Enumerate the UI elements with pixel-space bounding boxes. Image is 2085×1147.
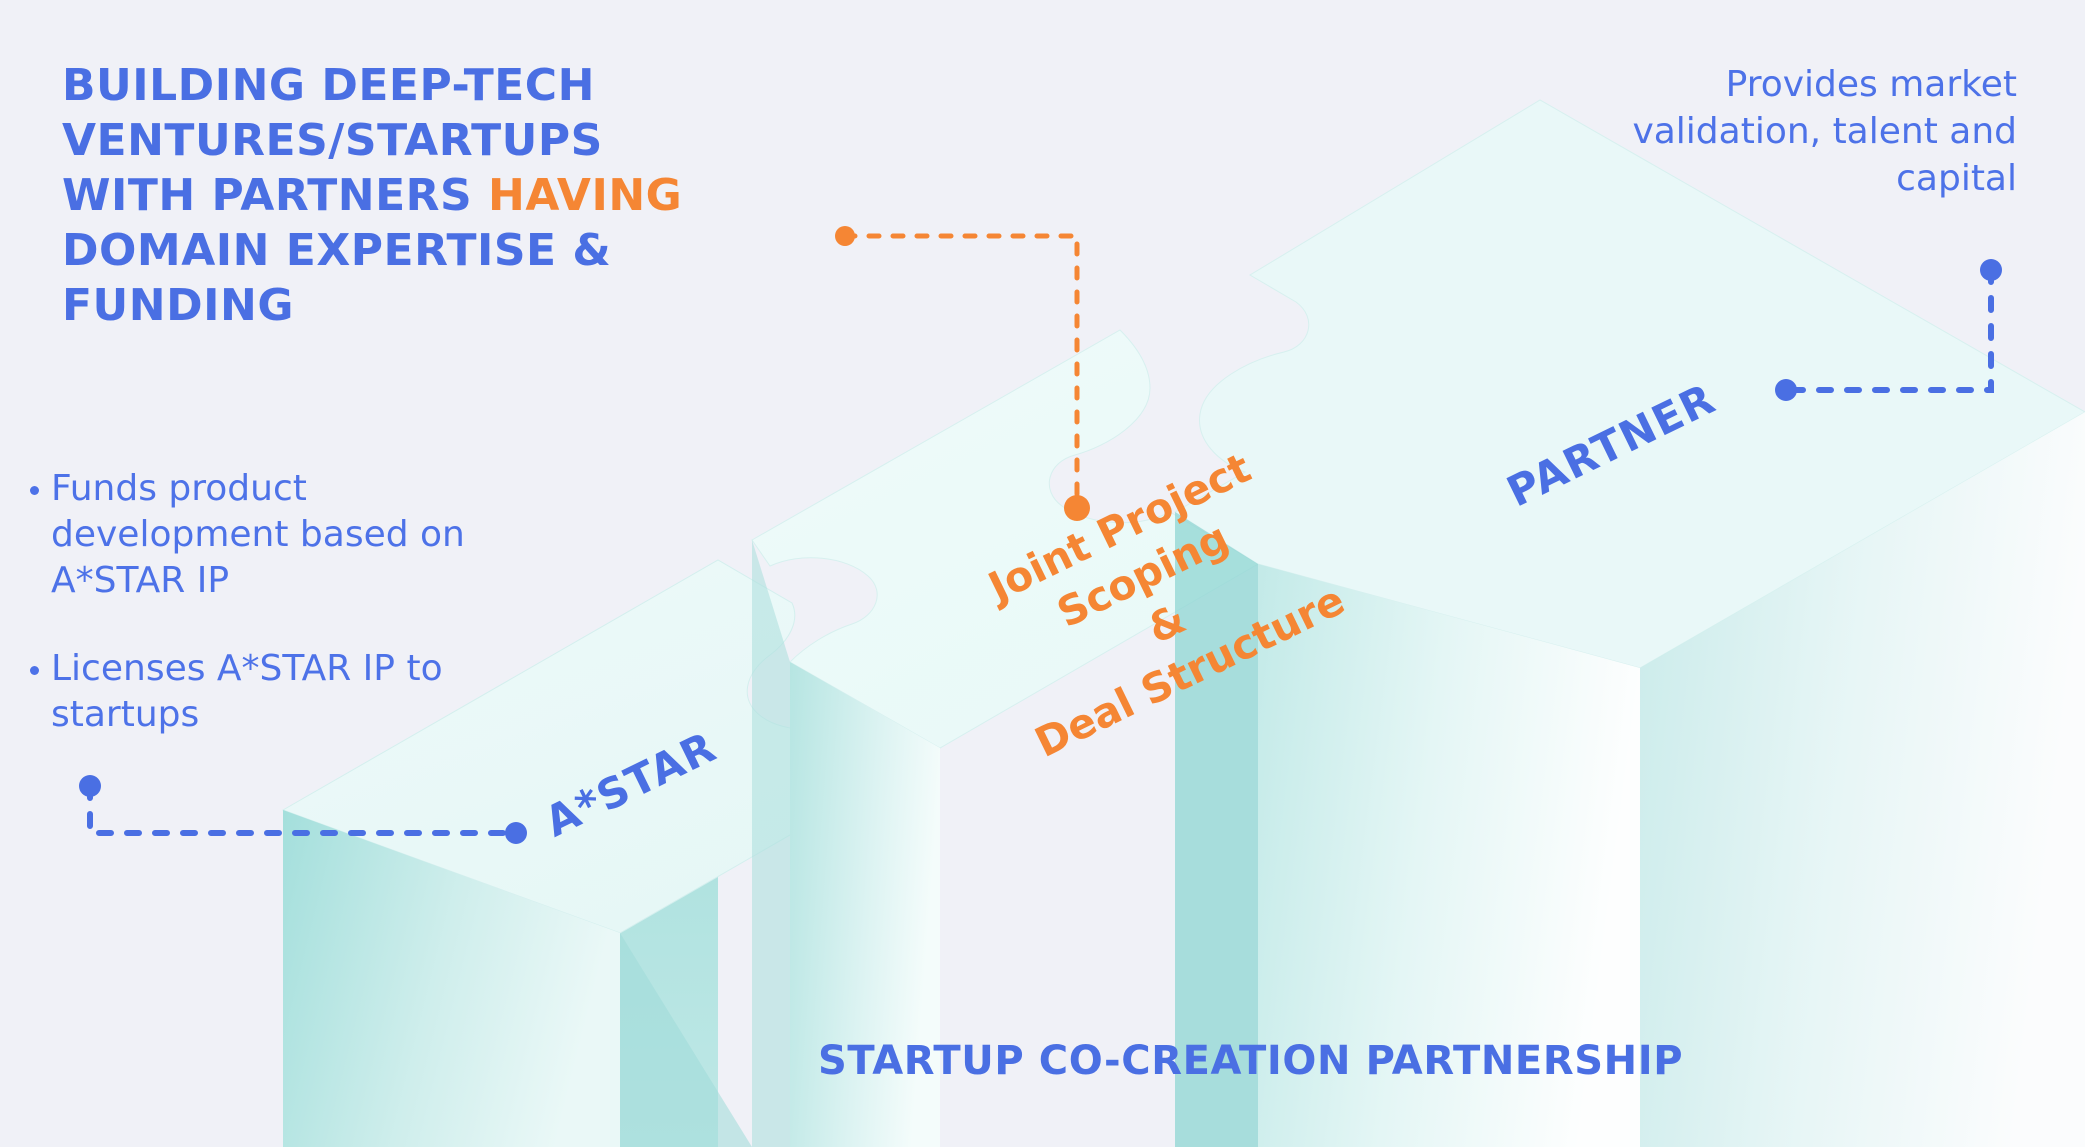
infographic-canvas: BUILDING DEEP-TECH VENTURES/STARTUPS WIT…: [0, 0, 2085, 1147]
list-item: Funds product development based on A*STA…: [30, 466, 500, 604]
headline-line-3-pre: WITH PARTNERS: [62, 170, 488, 221]
headline-line-3: WITH PARTNERS HAVING: [62, 168, 702, 223]
bottom-caption: STARTUP CO-CREATION PARTNERSHIP: [818, 1038, 1683, 1084]
bullet-dot-icon: [30, 486, 39, 495]
headline-accent-having: HAVING: [488, 170, 682, 221]
right-note-text: Provides market validation, talent and c…: [1617, 62, 2017, 202]
headline-line-4: DOMAIN EXPERTISE &: [62, 223, 702, 278]
left-notes-list: Funds product development based on A*STA…: [30, 466, 500, 780]
right-connector-end-dot: [1775, 379, 1797, 401]
bullet-text: Funds product development based on A*STA…: [51, 466, 500, 604]
bullet-text: Licenses A*STAR IP to startups: [51, 646, 500, 738]
left-connector-end-dot: [505, 822, 527, 844]
headline-line-2: VENTURES/STARTUPS: [62, 113, 702, 168]
headline-line-1: BUILDING DEEP-TECH: [62, 58, 702, 113]
list-item: Licenses A*STAR IP to startups: [30, 646, 500, 738]
bullet-dot-icon: [30, 666, 39, 675]
headline-line-5: FUNDING: [62, 278, 702, 333]
page-title: BUILDING DEEP-TECH VENTURES/STARTUPS WIT…: [62, 58, 702, 333]
